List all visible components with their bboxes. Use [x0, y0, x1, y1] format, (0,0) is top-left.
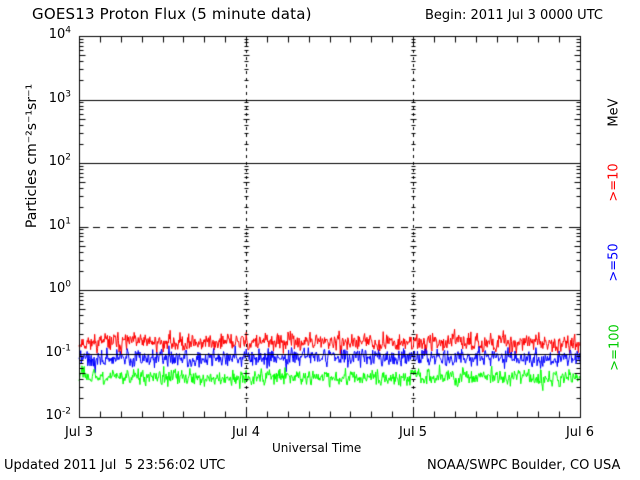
chart-page: GOES13 Proton Flux (5 minute data) Begin…: [0, 0, 640, 480]
x-tick-label: Jul 4: [211, 425, 281, 440]
right-axis-unit-label: MeV: [607, 83, 622, 143]
page-title: GOES13 Proton Flux (5 minute data): [32, 5, 312, 23]
y-tick-label: 102: [25, 154, 71, 169]
y-tick-label: 100: [25, 281, 71, 296]
x-tick-label: Jul 5: [378, 425, 448, 440]
legend-ge100-label: >=100: [608, 313, 623, 383]
y-tick-label: 10-2: [25, 408, 71, 423]
y-tick-label: 10-1: [25, 345, 71, 360]
source-credit: NOAA/SWPC Boulder, CO USA: [427, 458, 620, 473]
x-tick-label: Jul 3: [44, 425, 114, 440]
begin-time-label: Begin: 2011 Jul 3 0000 UTC: [425, 8, 603, 23]
legend-ge10-label: >=10: [607, 153, 622, 213]
y-tick-label: 104: [25, 27, 71, 42]
y-tick-label: 103: [25, 91, 71, 106]
x-tick-label: Jul 6: [545, 425, 615, 440]
proton-flux-plot-canvas: [0, 0, 640, 480]
updated-timestamp: Updated 2011 Jul 5 23:56:02 UTC: [4, 458, 225, 473]
legend-ge50-label: >=50: [607, 233, 622, 293]
x-axis-title: Universal Time: [272, 441, 361, 455]
y-tick-label: 101: [25, 218, 71, 233]
